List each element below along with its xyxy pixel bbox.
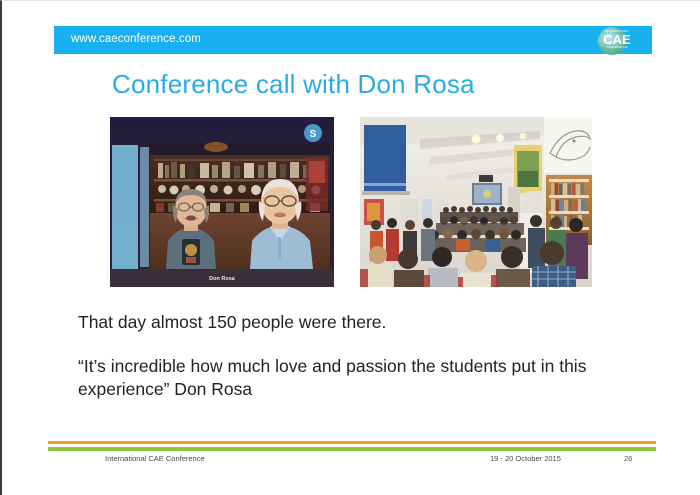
footer-page-number: 26	[624, 454, 632, 463]
footer-rule-orange	[48, 441, 656, 444]
svg-text:S: S	[310, 129, 317, 140]
skype-video-call-photo: Don Rosa S	[110, 117, 334, 287]
header-url-label: www.caeconference.com	[71, 33, 201, 45]
cae-logo: CAE INTERNATIONAL CONFERENCE	[590, 21, 638, 59]
svg-text:INTERNATIONAL: INTERNATIONAL	[605, 29, 629, 33]
page-title: Conference call with Don Rosa	[112, 69, 475, 100]
slide-canvas: www.caeconference.com CAE INTERNATIONAL …	[0, 0, 700, 495]
header-bar: www.caeconference.com CAE INTERNATIONAL …	[54, 26, 652, 54]
quote-line: “It’s incredible how much love and passi…	[78, 355, 658, 401]
skype-icon: S	[304, 124, 322, 142]
svg-text:CONFERENCE: CONFERENCE	[606, 45, 627, 49]
audience-photo	[360, 117, 592, 287]
svg-text:Don Rosa: Don Rosa	[209, 276, 236, 282]
attendance-line: That day almost 150 people were there.	[78, 311, 386, 334]
footer-rule-green	[48, 447, 656, 451]
footer-conference-name: International CAE Conference	[105, 454, 205, 463]
footer-date: 19 - 20 October 2015	[490, 454, 561, 463]
